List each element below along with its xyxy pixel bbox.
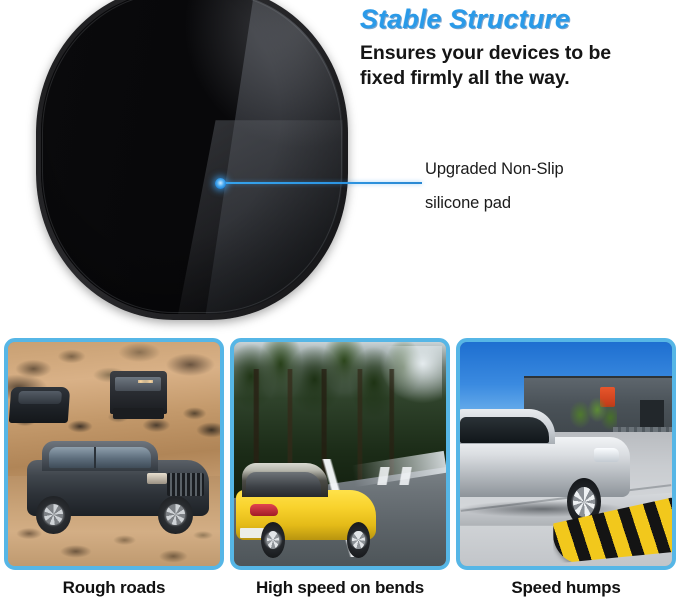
photo-frame xyxy=(456,338,676,570)
callout-label: Upgraded Non-Slip silicone pad xyxy=(425,152,655,220)
car-rear-wheel xyxy=(261,522,285,558)
suv-grille xyxy=(167,473,203,496)
road-dashed-centerline xyxy=(374,467,429,485)
scenario-strip: Rough roads xyxy=(0,338,679,606)
suv-headlight xyxy=(147,473,167,485)
scenario-caption: Rough roads xyxy=(4,576,224,600)
headline-block: Stable Structure Ensures your devices to… xyxy=(360,2,676,91)
dark-suv-left xyxy=(9,387,71,423)
scenario-card-high-speed-on-bends: High speed on bends xyxy=(230,338,450,600)
distant-jeep xyxy=(110,371,167,414)
jeep-headlights xyxy=(138,380,152,383)
photo-high-speed-on-bends xyxy=(234,342,446,566)
product-edge-highlight xyxy=(42,0,342,313)
scenario-caption: High speed on bends xyxy=(230,576,450,600)
car-side-windows xyxy=(460,417,549,443)
subtitle-line-1: Ensures your devices to be xyxy=(360,41,676,66)
scenario-card-rough-roads: Rough roads xyxy=(4,338,224,600)
suv-front-wheel xyxy=(158,496,193,534)
car-rear-window xyxy=(246,472,322,497)
car-front-wheel xyxy=(347,522,371,558)
yellow-sports-car xyxy=(236,463,376,553)
callout-marker-dot xyxy=(215,178,226,189)
product-body xyxy=(41,0,343,314)
car-body xyxy=(460,437,630,497)
scenario-caption: Speed humps xyxy=(456,576,676,600)
callout-leader-line xyxy=(224,182,422,184)
photo-rough-roads xyxy=(8,342,220,566)
page-title: Stable Structure xyxy=(360,2,676,36)
photo-frame xyxy=(230,338,450,570)
scenario-card-speed-humps: Speed humps xyxy=(456,338,676,600)
subtitle-line-2: fixed firmly all the way. xyxy=(360,66,676,91)
hero-section: Stable Structure Ensures your devices to… xyxy=(0,0,679,332)
main-suv xyxy=(27,441,209,531)
photo-frame xyxy=(4,338,224,570)
silver-car xyxy=(460,409,630,517)
callout-label-line-1: Upgraded Non-Slip xyxy=(425,152,655,186)
suv-windows xyxy=(49,447,151,469)
callout-label-line-2: silicone pad xyxy=(425,186,655,220)
product-image xyxy=(36,0,348,320)
suv-rear-wheel xyxy=(36,496,71,534)
car-taillight xyxy=(250,504,278,516)
car-headlight xyxy=(594,448,619,462)
product-rim xyxy=(36,0,348,320)
photo-speed-humps xyxy=(460,342,672,566)
page-subtitle: Ensures your devices to be fixed firmly … xyxy=(360,41,676,91)
